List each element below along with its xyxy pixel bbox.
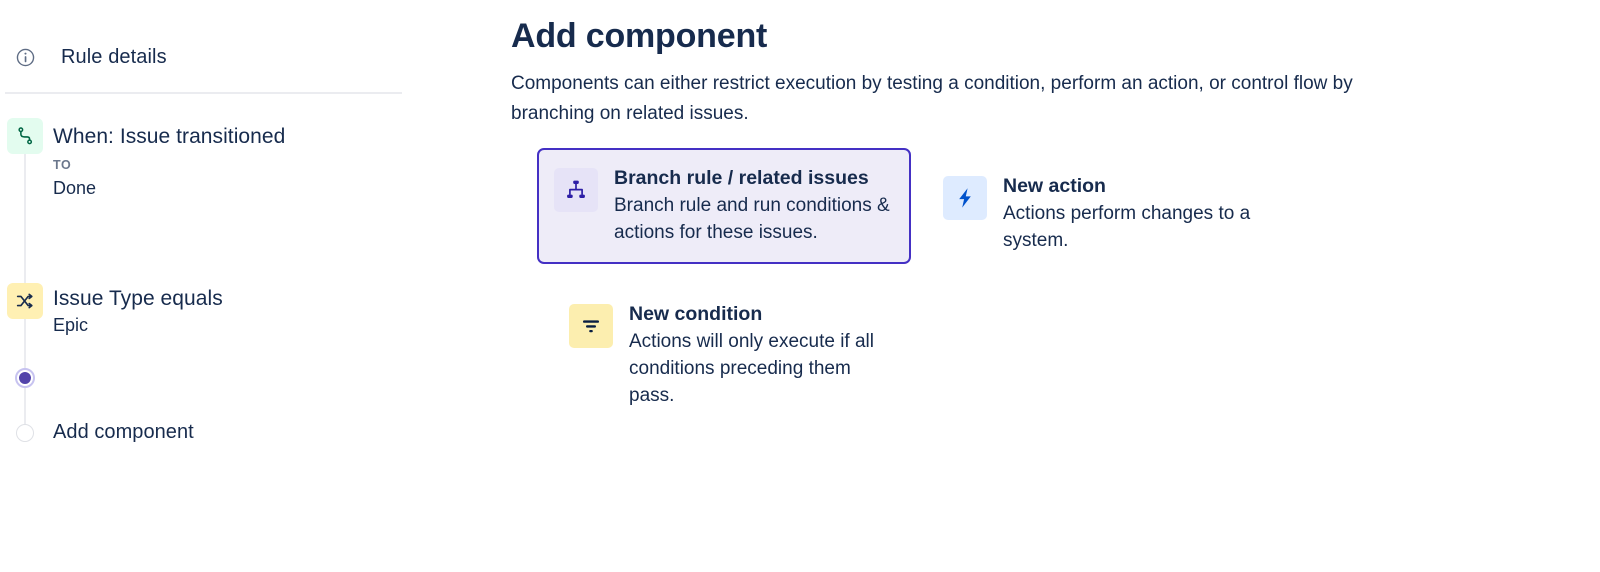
option-new-condition-title: New condition: [629, 303, 762, 325]
rule-details-label: Rule details: [61, 46, 167, 69]
trigger-title: When: Issue transitioned: [53, 124, 285, 150]
sidebar-item-add-component[interactable]: Add component: [53, 421, 194, 444]
shuffle-arrows-icon: [7, 283, 43, 319]
option-new-action-title: New action: [1003, 175, 1106, 197]
condition-title: Issue Type equals: [53, 286, 223, 312]
hierarchy-branch-icon: [554, 168, 598, 212]
sidebar-item-rule-details[interactable]: Rule details: [0, 40, 167, 74]
lightning-bolt-icon: [943, 176, 987, 220]
option-branch-rule-title: Branch rule / related issues: [614, 167, 869, 189]
trigger-sub-label: TO: [53, 155, 285, 175]
option-branch-rule[interactable]: Branch rule / related issues Branch rule…: [537, 148, 911, 264]
option-new-action[interactable]: New action Actions perform changes to a …: [926, 156, 1256, 272]
page-description: Components can either restrict execution…: [511, 69, 1416, 129]
condition-sub-value: Epic: [53, 313, 223, 337]
timeline-dot-active[interactable]: [15, 368, 35, 388]
info-circle-icon: [8, 47, 42, 68]
add-component-screen: Rule details When: Issue transitioned TO…: [0, 0, 1600, 572]
filter-funnel-icon: [569, 304, 613, 348]
issue-transition-icon: [7, 118, 43, 154]
rule-chain-sidebar: Rule details When: Issue transitioned TO…: [0, 0, 470, 572]
option-new-condition[interactable]: New condition Actions will only execute …: [552, 284, 892, 427]
page-title: Add component: [511, 17, 767, 56]
sidebar-divider: [5, 92, 402, 94]
trigger-sub-value: Done: [53, 176, 285, 200]
add-component-panel: Add component Components can either rest…: [511, 0, 1600, 572]
option-new-condition-description: Actions will only execute if all conditi…: [629, 328, 893, 409]
option-new-action-description: Actions perform changes to a system.: [1003, 200, 1271, 254]
option-branch-rule-description: Branch rule and run conditions & actions…: [614, 192, 892, 246]
timeline-dot-add[interactable]: [16, 424, 34, 442]
